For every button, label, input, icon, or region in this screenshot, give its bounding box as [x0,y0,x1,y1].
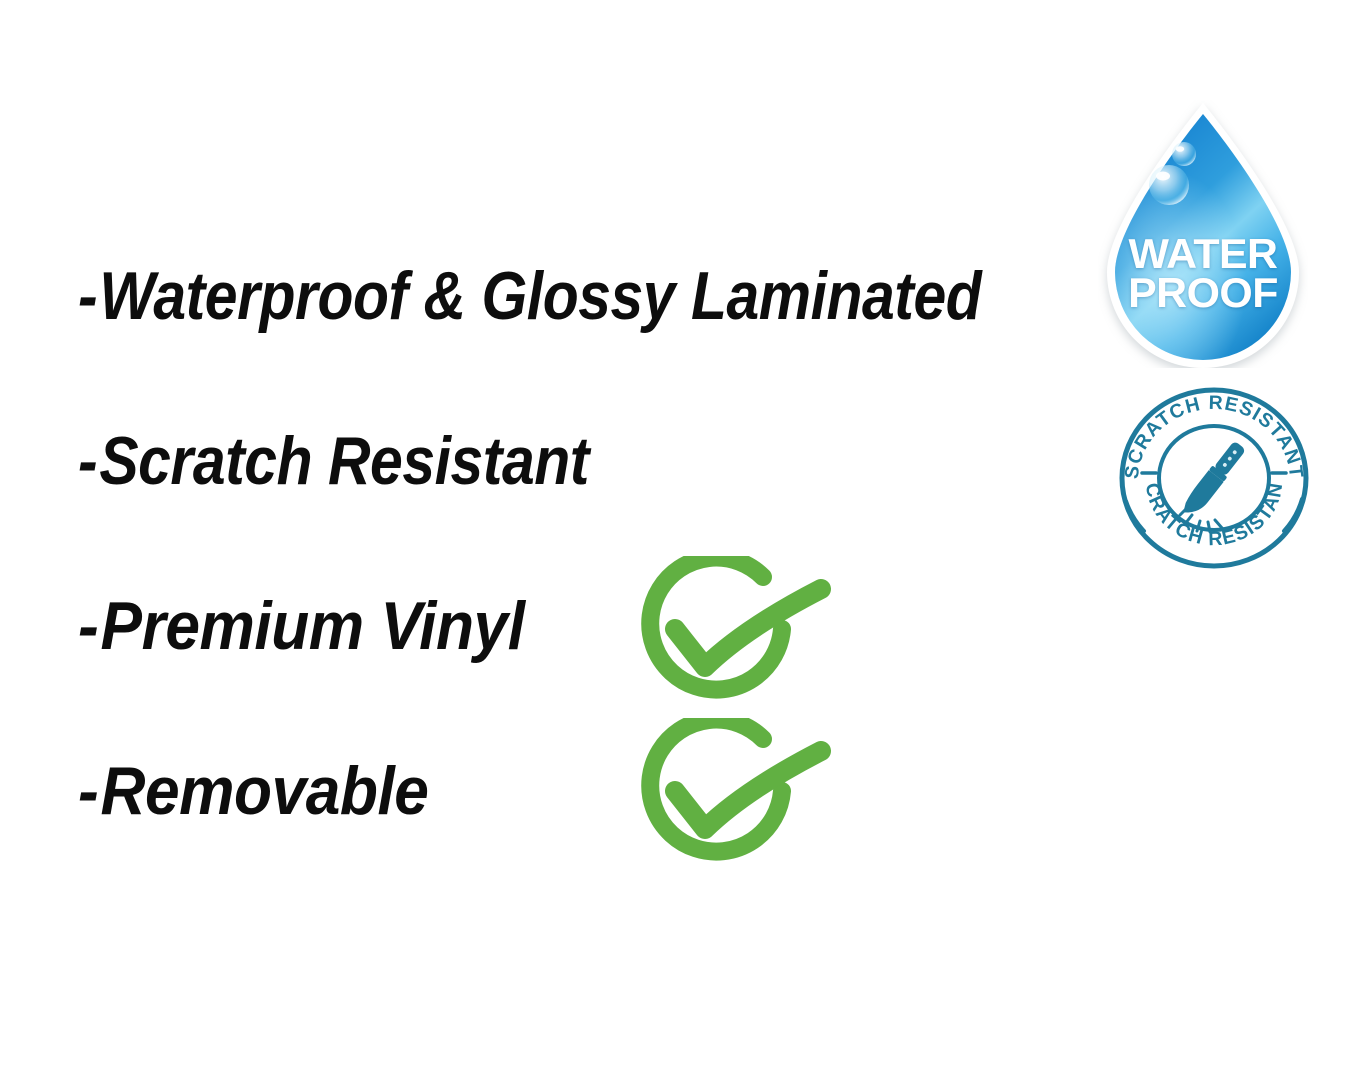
feature-line-scratch-resistant: -Scratch Resistant [78,427,589,495]
drop-highlight [1115,114,1291,360]
knife-blade [1179,470,1224,520]
knife-stamp-icon: SCRATCH RESISTANT SCRATCH RESISTANT [1114,381,1314,571]
bullet-dash: - [78,423,99,499]
bullet-dash: - [78,258,99,334]
feature-label: Scratch Resistant [99,423,589,499]
check-stroke [675,751,821,829]
bullet-dash: - [78,753,101,829]
check-circle-icon [635,718,835,878]
feature-line-removable: -Removable [78,757,428,825]
bubble-small-icon [1172,142,1196,166]
scratch-resistant-badge: SCRATCH RESISTANT SCRATCH RESISTANT [1114,381,1314,571]
feature-line-waterproof-glossy-laminated: -Waterproof & Glossy Laminated [78,262,981,330]
bubble-large-glint [1156,172,1170,181]
feature-label: Removable [101,753,429,829]
feature-label: Premium Vinyl [101,588,525,664]
feature-line-premium-vinyl: -Premium Vinyl [78,592,525,660]
feature-list-graphic: -Waterproof & Glossy Laminated -Scratch … [0,0,1359,1080]
check-circle-icon [635,556,835,716]
check-circle-premium-vinyl [635,556,835,716]
bubble-small-glint [1176,146,1184,152]
waterproof-badge: WATER PROOF [1098,100,1308,368]
knife-icon [1179,439,1248,520]
bullet-dash: - [78,588,101,664]
check-circle-removable [635,718,835,878]
check-stroke [675,589,821,667]
bubble-large-icon [1149,165,1189,205]
water-drop-icon [1098,100,1308,368]
feature-label: Waterproof & Glossy Laminated [99,258,981,334]
